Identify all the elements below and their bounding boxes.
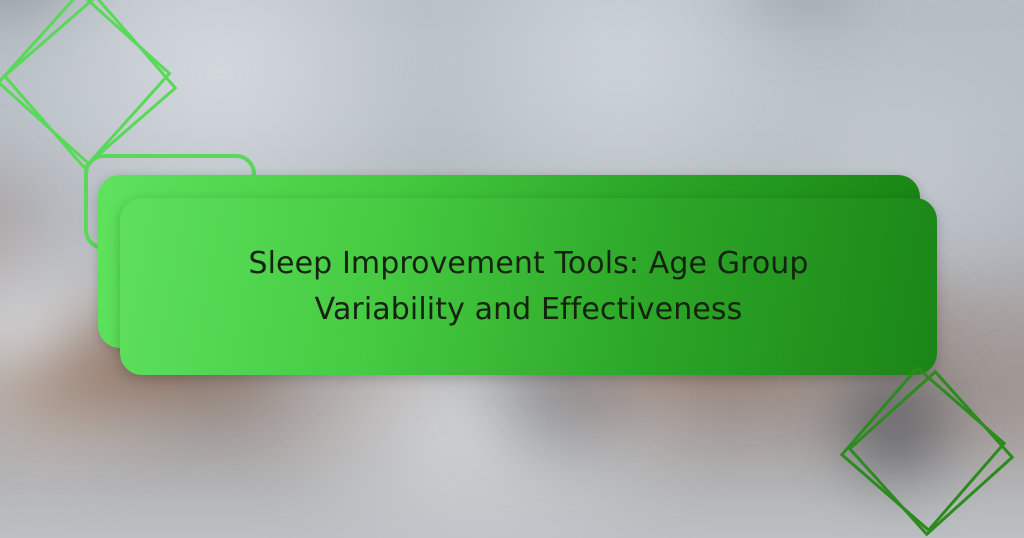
title-banner-slide: Sleep Improvement Tools: Age Group Varia… <box>0 0 1024 538</box>
page-title: Sleep Improvement Tools: Age Group Varia… <box>185 241 873 332</box>
title-card-front-layer: Sleep Improvement Tools: Age Group Varia… <box>120 198 937 375</box>
